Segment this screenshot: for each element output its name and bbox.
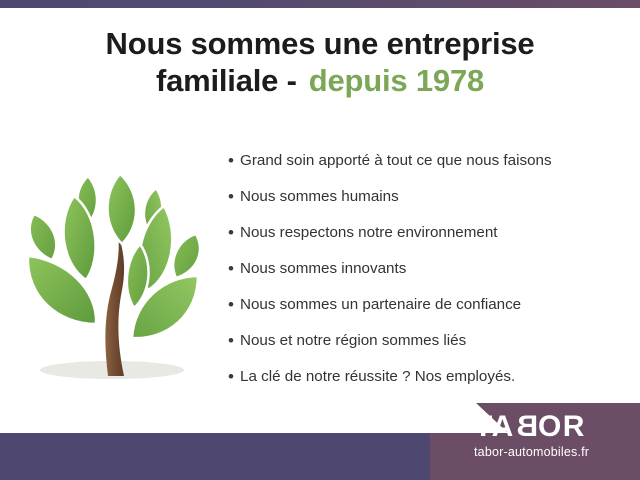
logo-letter-a: A bbox=[492, 410, 515, 443]
bullet-dot-icon: • bbox=[228, 366, 240, 388]
leaf-far-right-small bbox=[173, 234, 200, 278]
logo-letter-o: O bbox=[538, 410, 563, 443]
list-item: • Grand soin apporté à tout ce que nous … bbox=[228, 150, 628, 186]
list-item: • Nous et notre région sommes liés bbox=[228, 330, 628, 366]
list-item-label: La clé de notre réussite ? Nos employés. bbox=[240, 366, 515, 388]
bullet-dot-icon: • bbox=[228, 150, 240, 172]
bullet-dot-icon: • bbox=[228, 294, 240, 316]
value-proposition-list: • Grand soin apporté à tout ce que nous … bbox=[228, 150, 628, 402]
logo-wordmark: TABOR bbox=[474, 412, 634, 442]
title-accent-since-year: depuis 1978 bbox=[309, 63, 484, 98]
top-accent-bar bbox=[0, 0, 640, 8]
bullet-dot-icon: • bbox=[228, 222, 240, 244]
title-line-2: familiale -depuis 1978 bbox=[0, 63, 640, 100]
list-item: • La clé de notre réussite ? Nos employé… bbox=[228, 366, 628, 402]
list-item-label: Nous sommes un partenaire de confiance bbox=[240, 294, 521, 316]
list-item-label: Nous sommes humains bbox=[240, 186, 399, 208]
brand-logo[interactable]: TABOR tabor-automobiles.fr bbox=[474, 412, 634, 460]
list-item: • Nous sommes un partenaire de confiance bbox=[228, 294, 628, 330]
list-item: • Nous sommes humains bbox=[228, 186, 628, 222]
bullet-dot-icon: • bbox=[228, 330, 240, 352]
logo-letter-r: R bbox=[563, 410, 586, 443]
page-title: Nous sommes une entreprise familiale -de… bbox=[0, 26, 640, 99]
logo-letter-t: T bbox=[474, 410, 492, 443]
leaf-far-left-small bbox=[30, 214, 57, 260]
leaf-inner-right bbox=[127, 244, 149, 308]
tree-trunk bbox=[105, 234, 124, 376]
list-item: • Nous sommes innovants bbox=[228, 258, 628, 294]
logo-letter-b-mirrored: B bbox=[515, 412, 538, 442]
list-item-label: Grand soin apporté à tout ce que nous fa… bbox=[240, 150, 552, 172]
title-line-2-plain: familiale - bbox=[156, 63, 297, 98]
family-tree-illustration bbox=[8, 148, 218, 386]
list-item-label: Nous sommes innovants bbox=[240, 258, 406, 280]
list-item: • Nous respectons notre environnement bbox=[228, 222, 628, 258]
leaf-top-center bbox=[108, 174, 137, 244]
slide-canvas: Nous sommes une entreprise familiale -de… bbox=[0, 0, 640, 480]
bullet-dot-icon: • bbox=[228, 258, 240, 280]
bullet-dot-icon: • bbox=[228, 186, 240, 208]
title-line-1: Nous sommes une entreprise bbox=[0, 26, 640, 63]
list-item-label: Nous respectons notre environnement bbox=[240, 222, 498, 244]
list-item-label: Nous et notre région sommes liés bbox=[240, 330, 466, 352]
logo-website-url: tabor-automobiles.fr bbox=[474, 444, 634, 460]
